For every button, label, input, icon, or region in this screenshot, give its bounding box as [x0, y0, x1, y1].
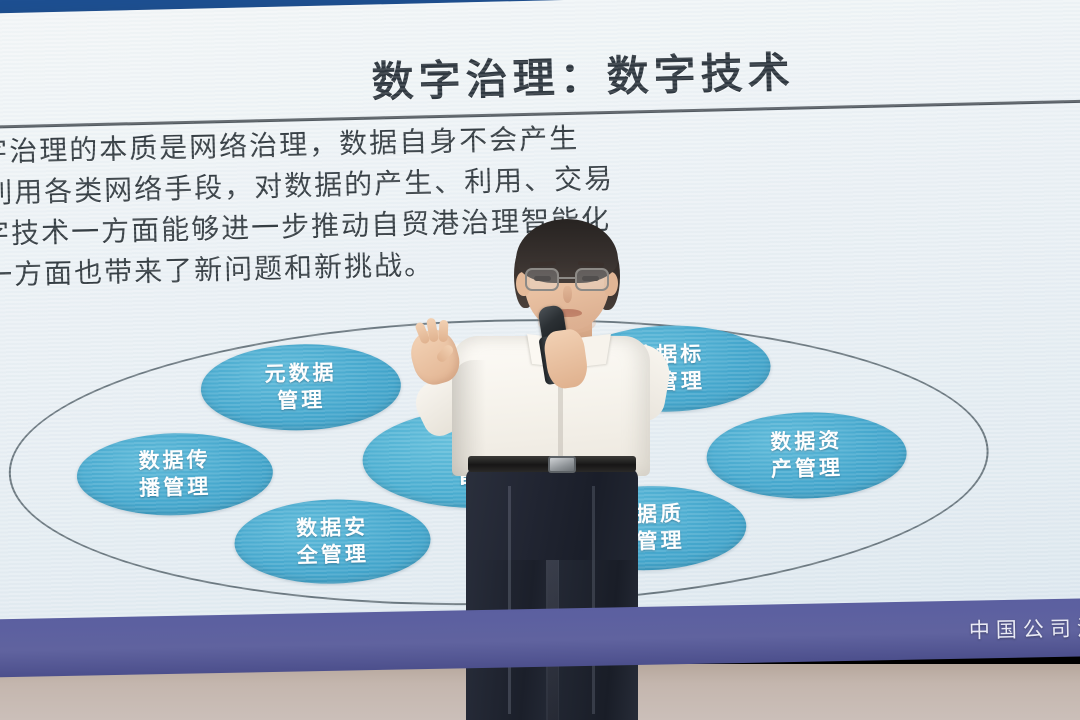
bubble-transport-line-2: 播管理 [139, 473, 212, 502]
bubble-metadata-line-1: 元数据 [264, 359, 337, 388]
bubble-asset-line-2: 产管理 [771, 455, 844, 484]
conference-photo: 数字治理：数字技术 数字治理的本质是网络治理，数据自身不会产生 是利用各类网络手… [0, 0, 1080, 720]
bubble-asset-line-1: 数据资 [770, 428, 843, 457]
data-governance-diagram: 元数据 管理 数据标 准管理 数据传 播管理 [0, 288, 1065, 643]
slide-title: 数字治理：数字技术 [371, 39, 795, 110]
venue-band-text: 中国公司治 [969, 612, 1080, 645]
bubble-transport-line-1: 数据传 [138, 446, 211, 475]
slide-body-text: 数字治理的本质是网络治理，数据自身不会产生 是利用各类网络手段，对数据的产生、利… [0, 104, 1080, 296]
bubble-center-line-1: 数据 [455, 425, 512, 458]
bubble-standard-line-2: 准管理 [633, 368, 706, 397]
bubble-quality-line-1: 数据质 [612, 500, 685, 529]
bubble-metadata-line-2: 管理 [265, 386, 338, 415]
bubble-center-line-2: 管理 [456, 457, 513, 490]
projection-screen: 数字治理：数字技术 数字治理的本质是网络治理，数据自身不会产生 是利用各类网络手… [0, 0, 1080, 644]
bubble-quality-line-2: 量管理 [612, 527, 685, 556]
bubble-standard-line-1: 数据标 [632, 341, 705, 370]
bubble-security-line-1: 数据安 [296, 514, 369, 543]
bubble-security-line-2: 全管理 [297, 541, 370, 570]
